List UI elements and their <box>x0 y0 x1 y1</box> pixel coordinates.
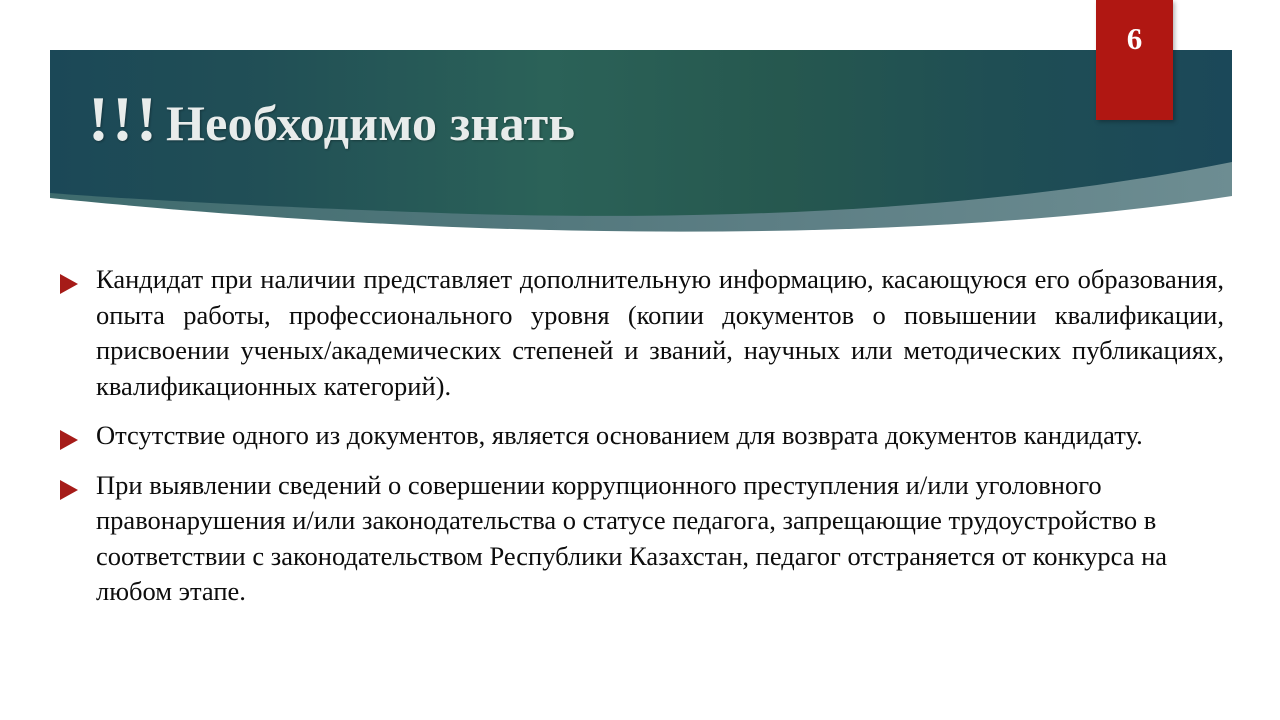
slide-number-badge: 6 <box>1096 0 1173 120</box>
slide-body: Кандидат при наличии представляет дополн… <box>58 262 1224 610</box>
list-item-text: При выявлении сведений о совершении корр… <box>96 468 1224 610</box>
list-item: Отсутствие одного из документов, являетс… <box>58 418 1224 454</box>
page-title: !!! Необходимо знать <box>88 91 575 148</box>
list-item: Кандидат при наличии представляет дополн… <box>58 262 1224 404</box>
triangle-right-icon <box>58 479 80 501</box>
presentation-slide: 6 !!! Необходимо знать Кандидат при нали… <box>0 0 1280 720</box>
triangle-right-icon <box>58 429 80 451</box>
slide-number-value: 6 <box>1127 23 1143 54</box>
list-item-text: Кандидат при наличии представляет дополн… <box>96 262 1224 404</box>
list-item: При выявлении сведений о совершении корр… <box>58 468 1224 610</box>
triangle-right-icon <box>58 273 80 295</box>
title-text: Необходимо знать <box>166 98 575 148</box>
list-item-text: Отсутствие одного из документов, являетс… <box>96 418 1224 454</box>
title-exclamation-prefix: !!! <box>88 91 166 148</box>
